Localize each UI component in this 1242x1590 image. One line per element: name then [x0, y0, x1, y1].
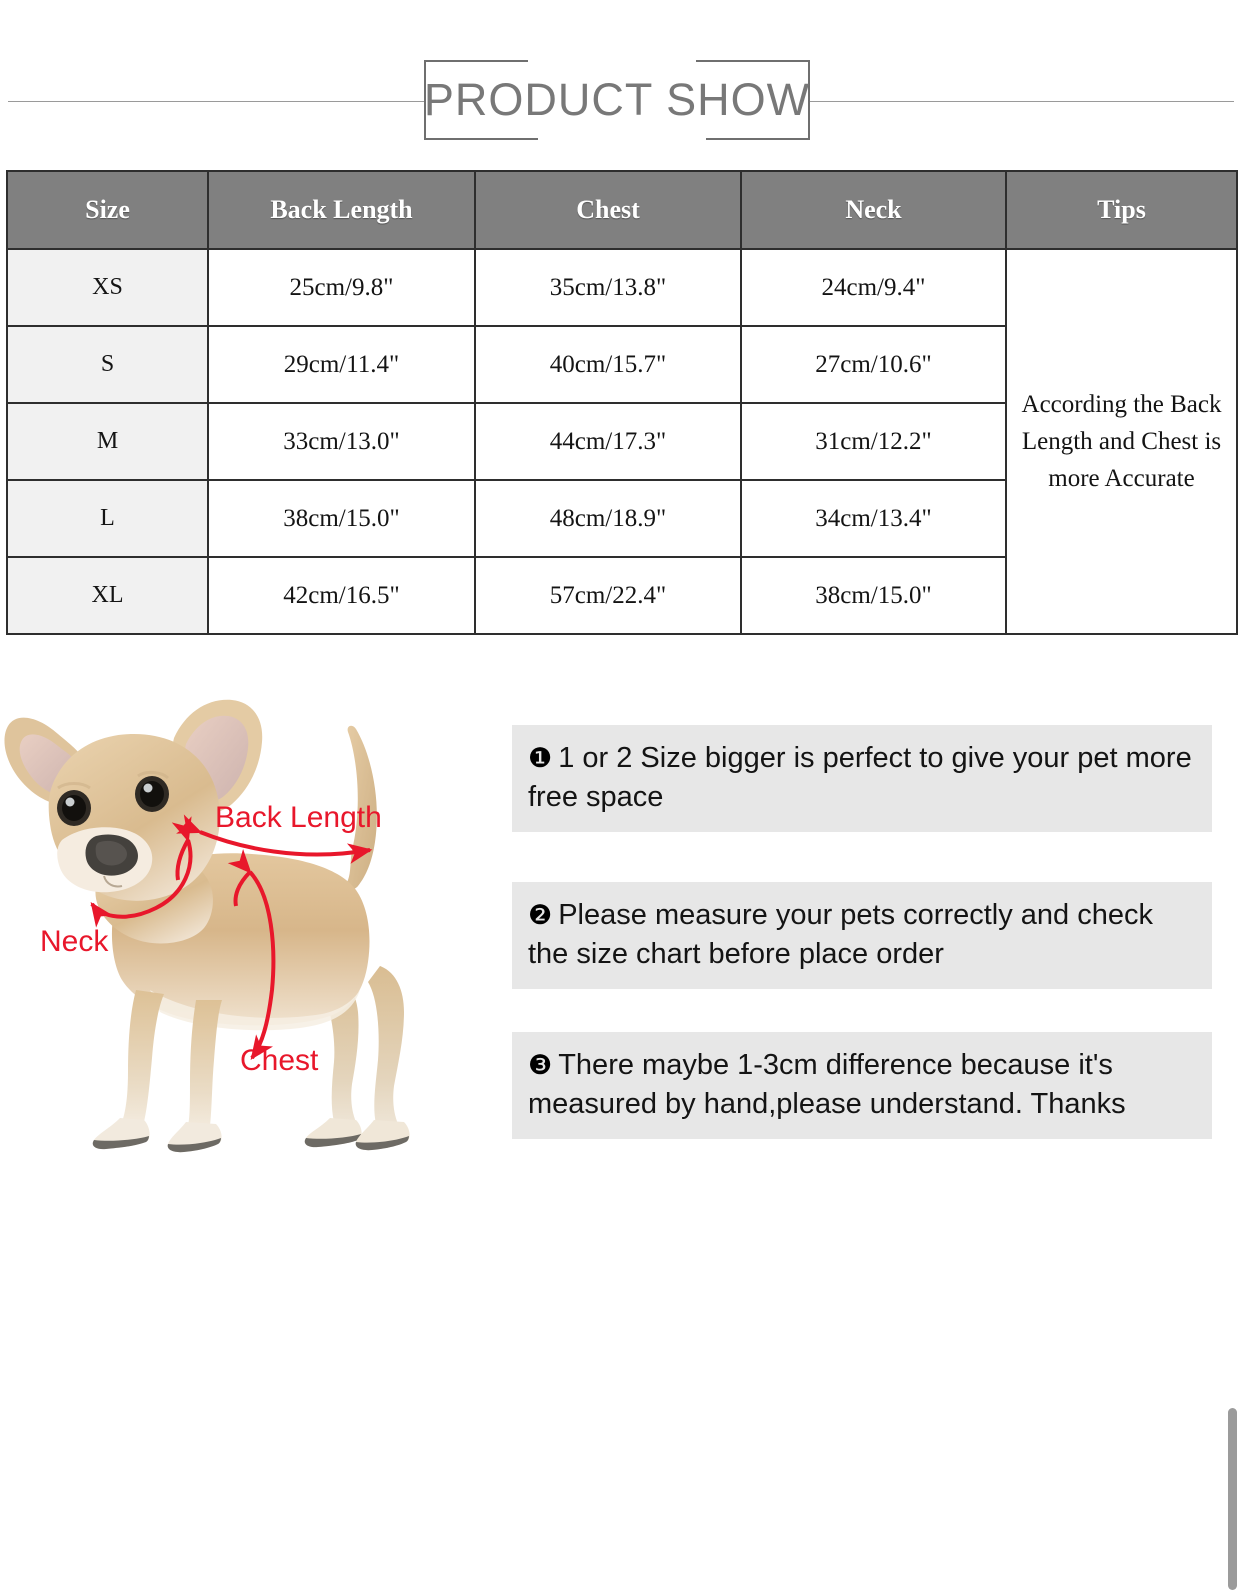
cell-size: L — [7, 480, 208, 557]
cell-chest: 40cm/15.7" — [475, 326, 741, 403]
scrollbar-thumb[interactable] — [1228, 1408, 1237, 1590]
note-number-icon: ❷ — [528, 900, 552, 930]
cell-neck: 38cm/15.0" — [741, 557, 1006, 634]
cell-neck: 31cm/12.2" — [741, 403, 1006, 480]
page-header: PRODUCT SHOW — [0, 0, 1242, 160]
header-rule-right — [810, 101, 1234, 102]
cell-back-length: 29cm/11.4" — [208, 326, 475, 403]
cell-back-length: 33cm/13.0" — [208, 403, 475, 480]
table-row: XS 25cm/9.8" 35cm/13.8" 24cm/9.4" Accord… — [7, 249, 1237, 326]
table-header-row: Size Back Length Chest Neck Tips — [7, 171, 1237, 249]
size-chart-table: Size Back Length Chest Neck Tips XS 25cm… — [6, 170, 1238, 635]
column-header-back-length: Back Length — [208, 171, 475, 249]
title-decorative-frame: PRODUCT SHOW — [424, 60, 810, 140]
cell-chest: 35cm/13.8" — [475, 249, 741, 326]
cell-chest: 57cm/22.4" — [475, 557, 741, 634]
page-title: PRODUCT SHOW — [424, 60, 810, 140]
note-item: ❷Please measure your pets correctly and … — [512, 882, 1212, 989]
cell-size: XS — [7, 249, 208, 326]
cell-neck: 34cm/13.4" — [741, 480, 1006, 557]
cell-back-length: 42cm/16.5" — [208, 557, 475, 634]
cell-chest: 48cm/18.9" — [475, 480, 741, 557]
cell-size: XL — [7, 557, 208, 634]
note-text: Please measure your pets correctly and c… — [528, 899, 1153, 970]
annotation-label-chest: Chest — [240, 1044, 318, 1078]
column-header-neck: Neck — [741, 171, 1006, 249]
note-item: ❸There maybe 1-3cm difference because it… — [512, 1032, 1212, 1139]
note-text: 1 or 2 Size bigger is perfect to give yo… — [528, 742, 1192, 813]
column-header-size: Size — [7, 171, 208, 249]
cell-size: M — [7, 403, 208, 480]
note-item: ❶1 or 2 Size bigger is perfect to give y… — [512, 725, 1212, 832]
cell-back-length: 25cm/9.8" — [208, 249, 475, 326]
annotation-label-neck: Neck — [40, 925, 108, 959]
cell-tips: According the Back Length and Chest is m… — [1006, 249, 1237, 634]
cell-chest: 44cm/17.3" — [475, 403, 741, 480]
size-chart-container: Size Back Length Chest Neck Tips XS 25cm… — [6, 170, 1236, 635]
header-rule-left — [8, 101, 424, 102]
note-text: There maybe 1-3cm difference because it'… — [528, 1049, 1126, 1120]
cell-back-length: 38cm/15.0" — [208, 480, 475, 557]
cell-size: S — [7, 326, 208, 403]
vertical-scrollbar[interactable] — [1226, 625, 1242, 1179]
cell-neck: 24cm/9.4" — [741, 249, 1006, 326]
column-header-chest: Chest — [475, 171, 741, 249]
note-number-icon: ❸ — [528, 1050, 552, 1080]
annotation-label-back-length: Back Length — [215, 801, 382, 835]
cell-neck: 27cm/10.6" — [741, 326, 1006, 403]
note-number-icon: ❶ — [528, 743, 552, 773]
column-header-tips: Tips — [1006, 171, 1237, 249]
